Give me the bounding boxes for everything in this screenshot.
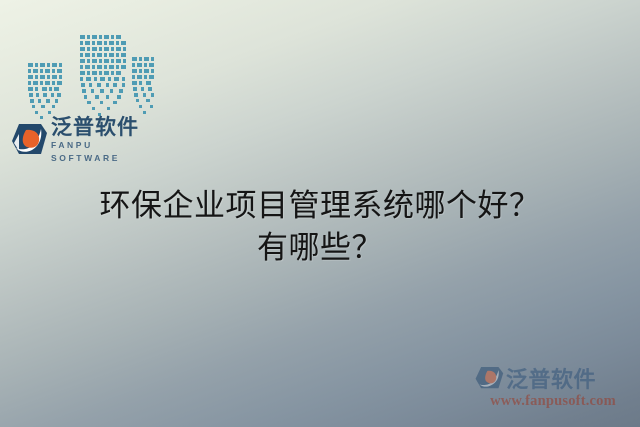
brand-name-en: FANPU SOFTWARE [51, 139, 160, 165]
headline-text: 环保企业项目管理系统哪个好？ 有哪些？ [0, 186, 640, 270]
brand-name-cn: 泛普软件 [51, 116, 160, 138]
headline-line-1: 环保企业项目管理系统哪个好？ [0, 186, 640, 228]
poster-canvas: 泛普软件 FANPU SOFTWARE 环保企业项目管理系统哪个好？ 有哪些？ … [0, 0, 640, 427]
watermark-logo-mark-icon [474, 363, 504, 393]
watermark-brand-row: 泛普软件 [474, 361, 632, 395]
fanpu-logo-mark-icon [10, 121, 48, 159]
watermark: 泛普软件 www.fanpusoft.com [474, 361, 632, 415]
watermark-brand-name: 泛普软件 [506, 362, 596, 394]
watermark-url: www.fanpusoft.com [474, 393, 632, 410]
headline-line-2: 有哪些？ [0, 228, 640, 270]
brand-wordmark: 泛普软件 FANPU SOFTWARE [51, 116, 160, 165]
brand-logo: 泛普软件 FANPU SOFTWARE [10, 116, 160, 164]
pixel-cityscape-icon [22, 26, 162, 122]
